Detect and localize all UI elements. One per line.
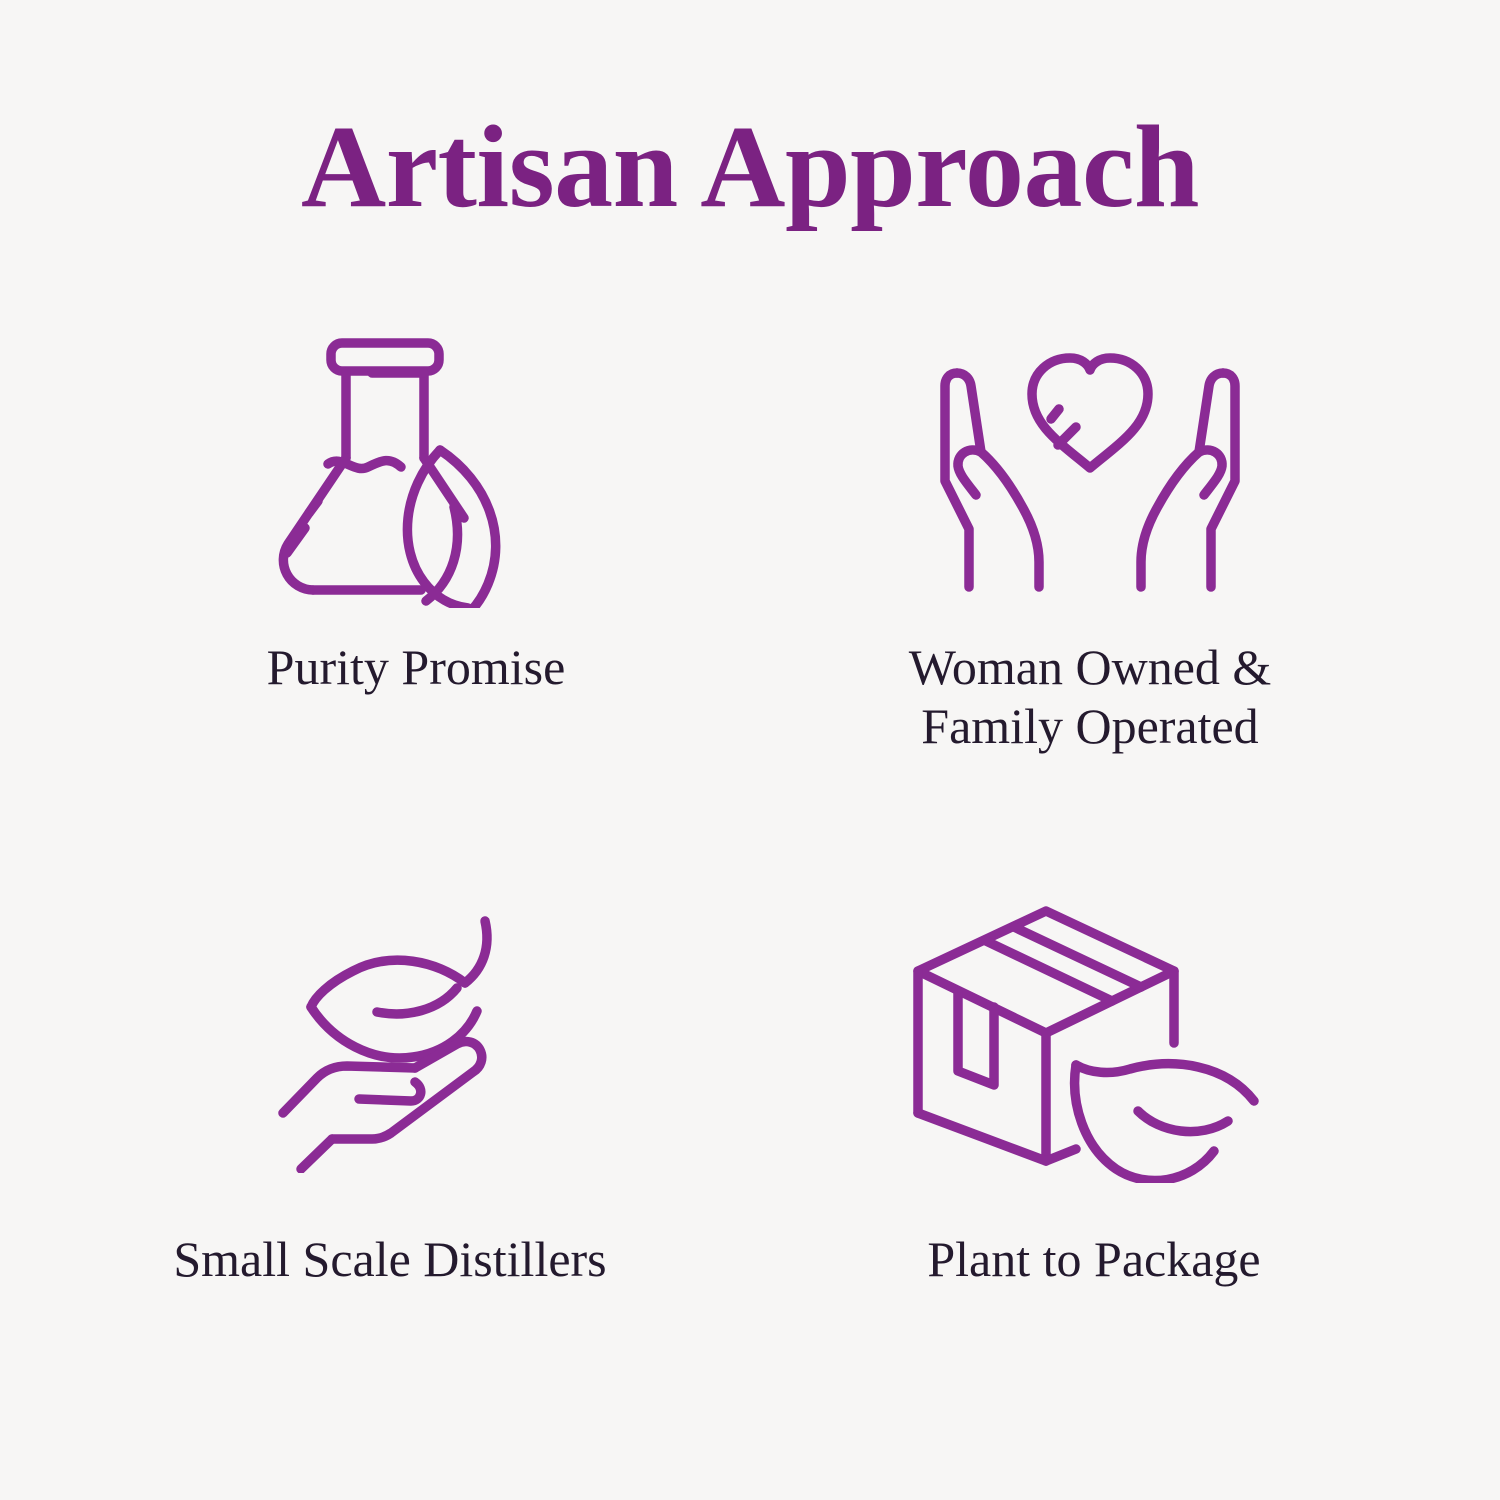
- feature-grid: Purity Promise: [90, 312, 1410, 1289]
- feature-label: Purity Promise: [267, 638, 566, 697]
- feature-label: Small Scale Distillers: [173, 1230, 606, 1289]
- hand-holding-leaf-icon: [273, 888, 523, 1188]
- feature-item-small-scale-distillers: Small Scale Distillers: [90, 888, 750, 1289]
- feature-item-purity-promise: Purity Promise: [90, 312, 750, 756]
- page-title: Artisan Approach: [0, 108, 1500, 226]
- feature-item-woman-owned: Woman Owned & Family Operated: [750, 312, 1410, 756]
- feature-item-plant-to-package: Plant to Package: [750, 888, 1410, 1289]
- feature-label: Plant to Package: [927, 1230, 1260, 1289]
- flask-leaf-icon: [268, 312, 548, 612]
- artisan-approach-panel: Artisan Approach: [0, 0, 1500, 1500]
- hands-holding-heart-icon: [931, 312, 1249, 612]
- feature-label: Woman Owned & Family Operated: [909, 638, 1272, 756]
- package-box-leaf-icon: [898, 888, 1298, 1188]
